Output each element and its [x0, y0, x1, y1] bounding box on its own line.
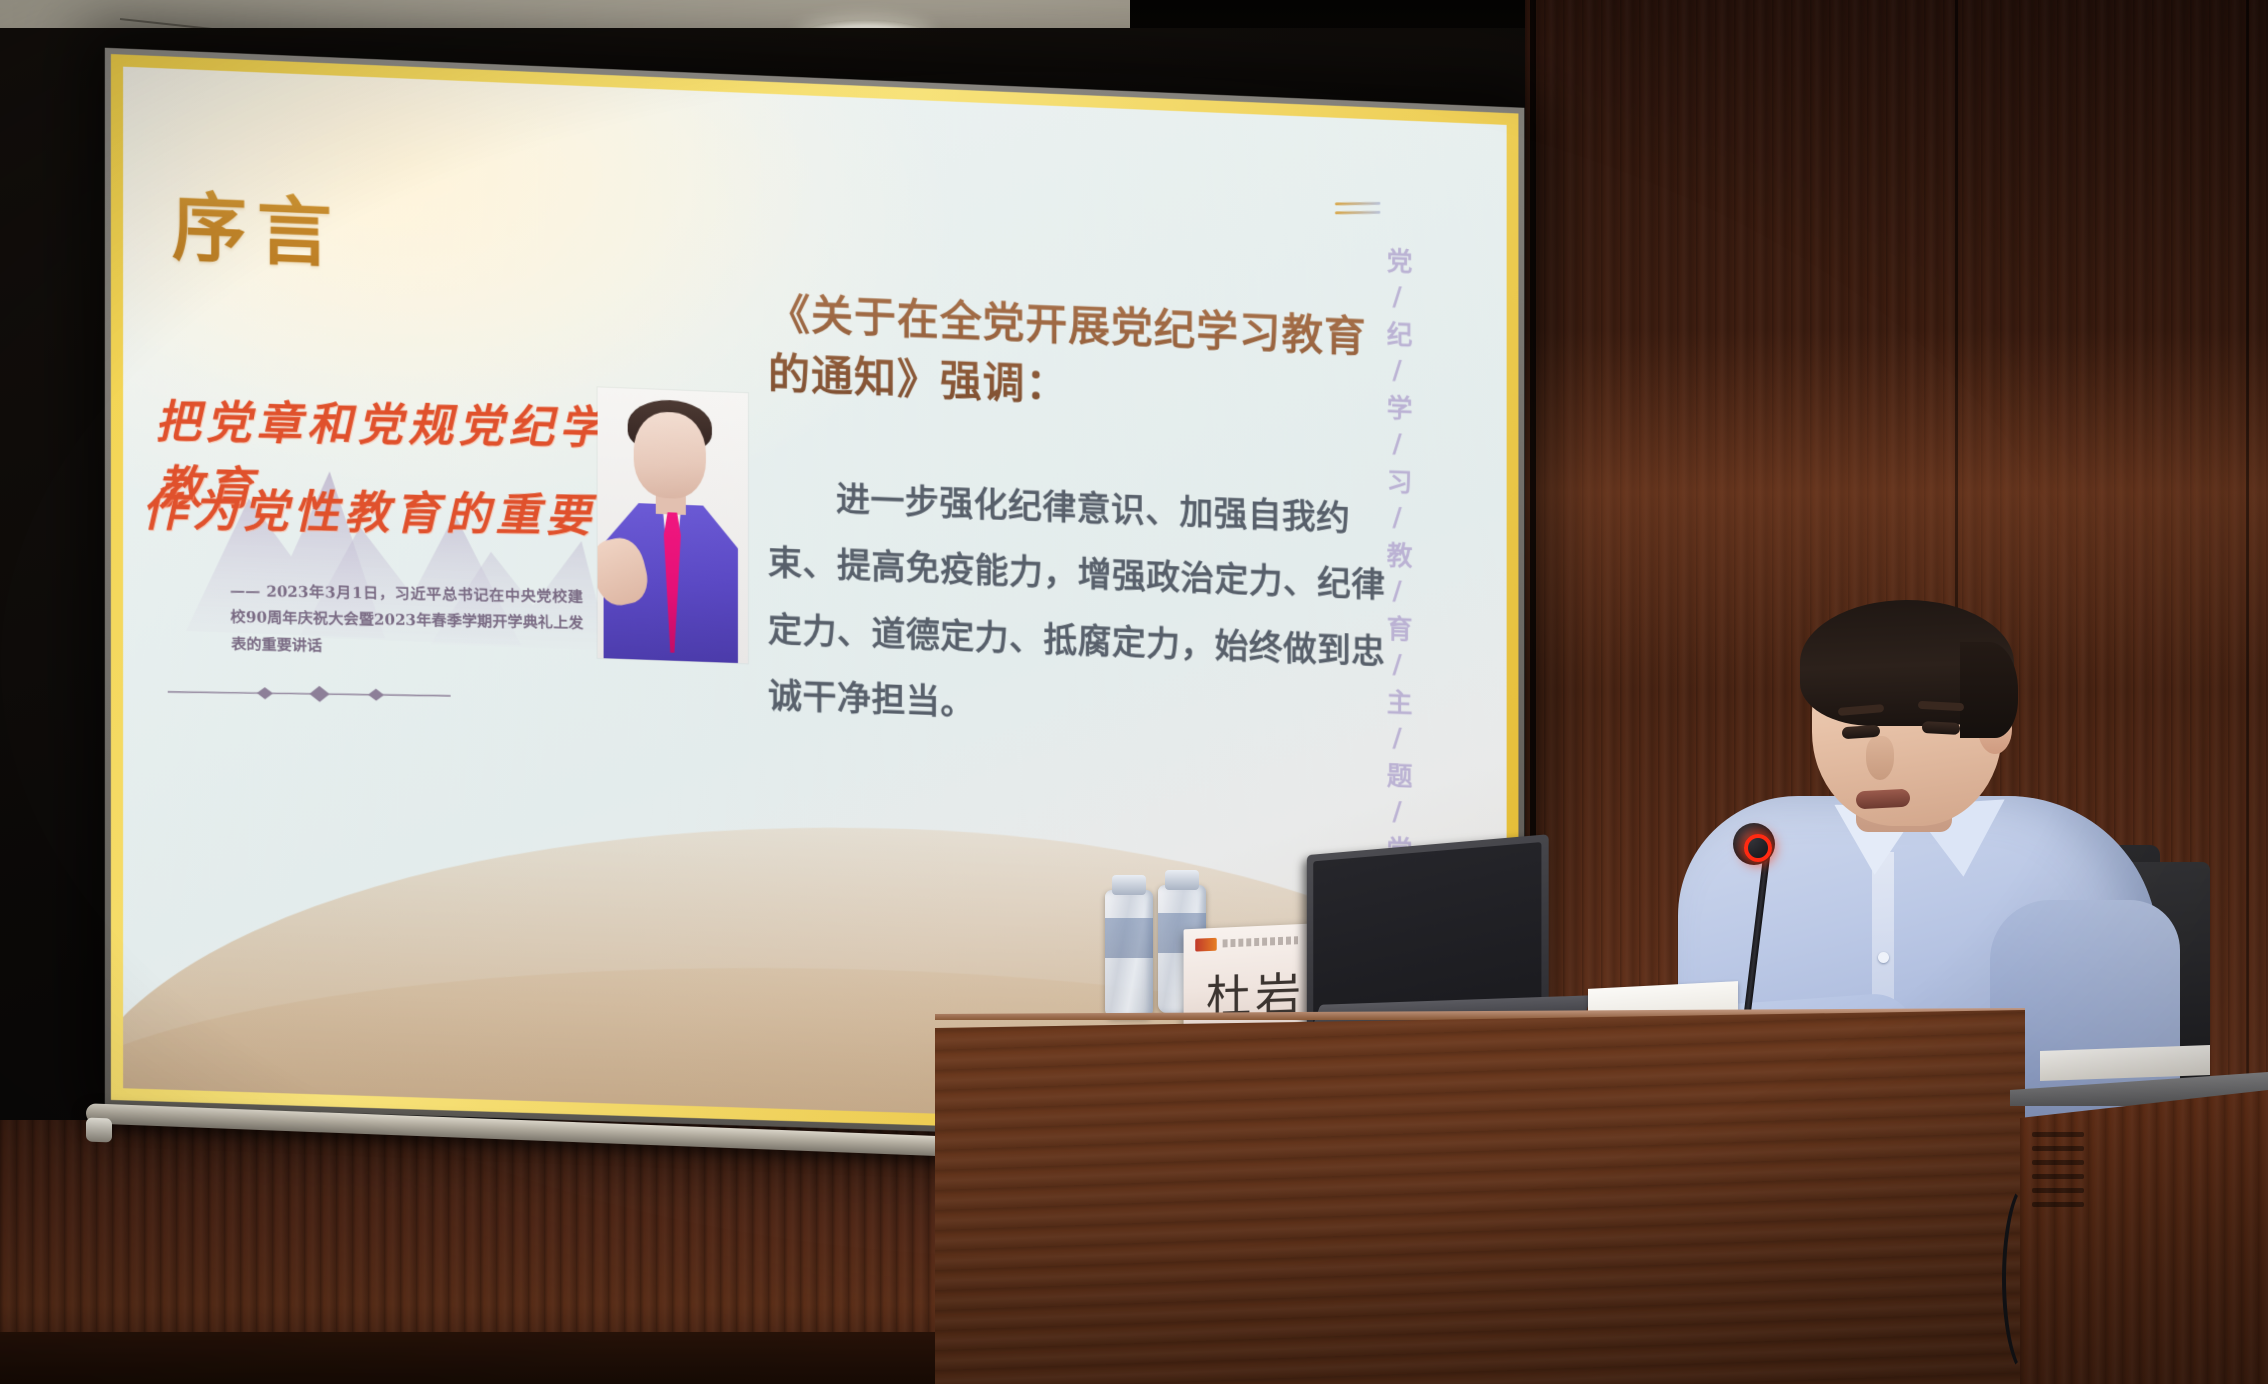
- slide-section-title: 序言: [172, 167, 342, 282]
- floor: [0, 1332, 1000, 1384]
- presenter-mouth: [1856, 789, 1911, 810]
- slide-body-paragraph: 进一步强化纪律意识、加强自我约束、提高免疫能力，增强政治定力、纪律定力、道德定力…: [768, 464, 1404, 752]
- presenter-nose: [1866, 736, 1894, 780]
- slide-vertical-theme-text: 党/纪/学/习/教/育/主/题/党/课: [1376, 247, 1415, 945]
- podium-papers: [2040, 1045, 2210, 1081]
- organization-logo-icon: [1195, 938, 1217, 952]
- presenter-desk: [935, 1010, 2025, 1384]
- slide-rule-marks: [1335, 201, 1380, 225]
- water-bottle-label: [1105, 918, 1153, 958]
- presenter-hair-side: [1960, 642, 2018, 738]
- water-bottle-cap: [1165, 870, 1199, 890]
- calligraphy-attribution: —— 2023年3月1日，习近平总书记在中央党校建校90周年庆祝大会暨2023年…: [230, 578, 584, 663]
- podium-cable: [2002, 1180, 2056, 1378]
- presentation-room-photo: 序言 把党章和党规党纪学习教育: [0, 0, 2268, 1384]
- slide-heading: 《关于在全党开展党纪学习教育的通知》强调：: [768, 284, 1404, 428]
- water-bottle-cap: [1112, 875, 1146, 895]
- portrait-face: [634, 411, 706, 500]
- presenter-eye: [1922, 721, 1961, 735]
- screen-roller-end-cap: [86, 1118, 112, 1143]
- ornament-divider: [168, 682, 451, 706]
- leader-portrait: [598, 387, 748, 663]
- microphone-active-indicator: [1744, 834, 1772, 862]
- shirt-button: [1878, 952, 1889, 963]
- organization-name-text: [1223, 936, 1298, 947]
